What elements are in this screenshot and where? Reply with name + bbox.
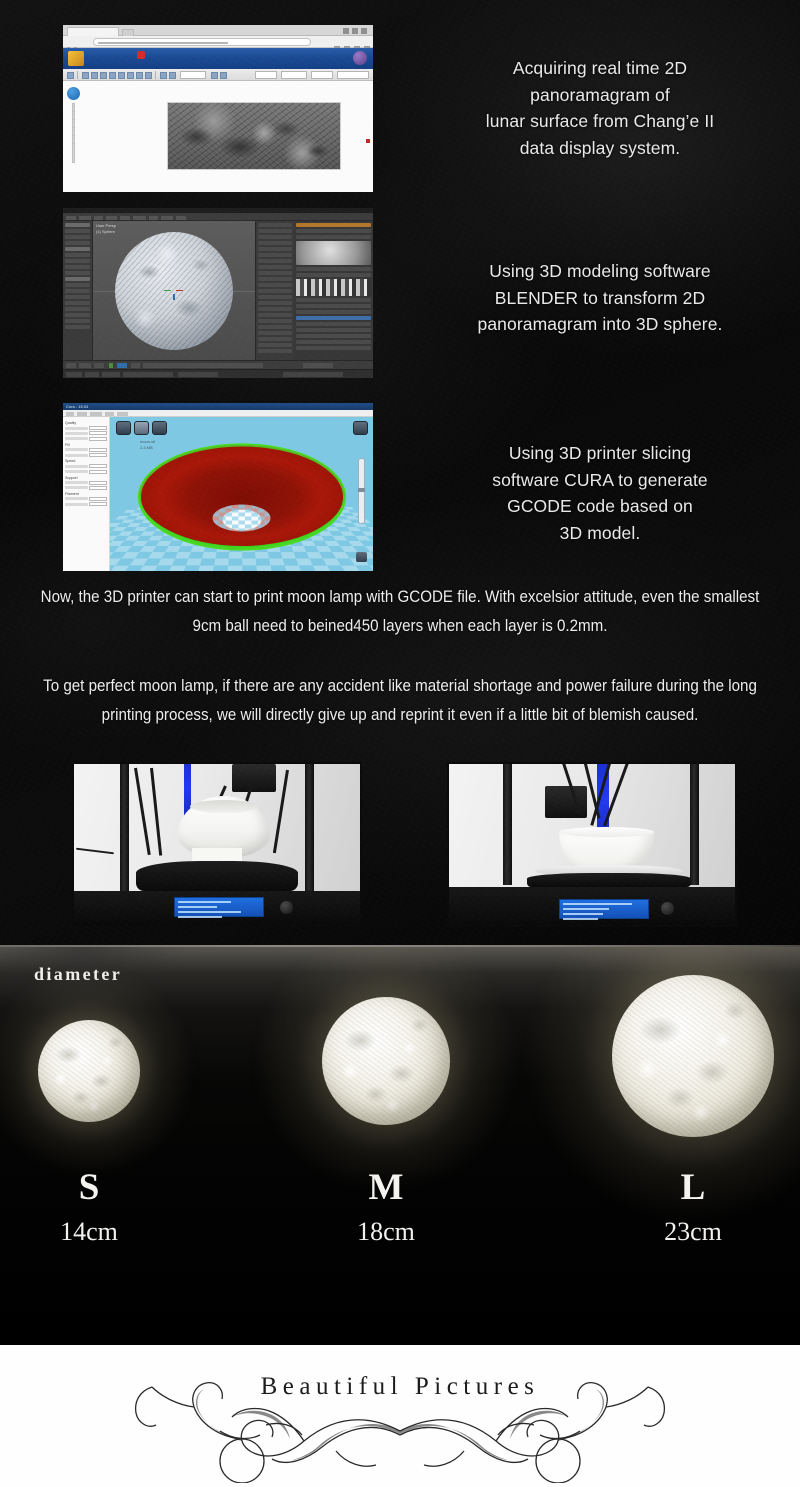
setting-row[interactable]	[65, 486, 107, 490]
sliced-model-preview	[139, 445, 344, 549]
app-toolbar[interactable]	[63, 69, 373, 81]
blender-tool-panel[interactable]	[63, 221, 93, 360]
caption-line: software CURA to generate	[420, 467, 780, 494]
moon-lamp-small	[38, 1020, 140, 1122]
cura-main-body: Quality Fill Speed Support Filament	[63, 417, 373, 571]
blender-properties-panel[interactable]	[255, 221, 373, 360]
layer-view-icon[interactable]	[356, 552, 367, 562]
cura-window-title: Cura - 15.04	[66, 404, 88, 409]
blender-timeline[interactable]	[63, 360, 373, 369]
setting-row[interactable]	[65, 502, 107, 506]
moon-lamp-large	[612, 975, 774, 1137]
blender-outliner-column[interactable]	[256, 221, 294, 360]
caption-line: GCODE code based on	[420, 493, 780, 520]
size-letter-m: M	[327, 1166, 445, 1209]
setting-row[interactable]	[65, 426, 107, 430]
product-description-page: Acquiring real time 2D panoramagram of l…	[0, 0, 800, 1487]
caption-line: 3D model.	[420, 520, 780, 547]
printing-process-section: Acquiring real time 2D panoramagram of l…	[0, 0, 800, 945]
cura-title-bar: Cura - 15.04	[63, 403, 373, 410]
paragraph-printing-start: Now, the 3D printer can start to print m…	[39, 583, 761, 640]
blender-viewport-hud: User Persp(1) Sphere	[96, 223, 116, 235]
caption-line: Acquiring real time 2D	[420, 55, 780, 82]
settings-group-label: Speed	[65, 459, 107, 463]
photo-printer-finished	[447, 762, 737, 927]
caption-line: BLENDER to transform 2D	[420, 285, 780, 312]
printer-control-knob[interactable]	[280, 901, 293, 914]
caption-line: data display system.	[420, 135, 780, 162]
caption-blender: Using 3D modeling software BLENDER to tr…	[420, 258, 780, 338]
printer-bed-carriage	[527, 873, 691, 887]
site-badge-icon	[137, 51, 145, 59]
printer-column-left	[120, 764, 129, 891]
printer-control-panel	[74, 891, 360, 925]
cura-settings-panel[interactable]: Quality Fill Speed Support Filament	[63, 417, 110, 571]
caption-line: panoramagram of	[420, 82, 780, 109]
moon-lamp-medium	[322, 997, 450, 1125]
screenshot-cura-slicer: Cura - 15.04 Quality Fill Speed	[63, 403, 373, 571]
browser-nav-icons[interactable]	[66, 39, 90, 46]
avatar[interactable]	[353, 51, 367, 65]
browser-tab-bar	[63, 25, 373, 36]
setting-row[interactable]	[65, 431, 107, 435]
blender-3d-cursor-icon	[164, 286, 184, 296]
moon-surface	[38, 1020, 140, 1122]
status-marker-icon	[366, 139, 370, 143]
window-controls[interactable]	[340, 28, 370, 34]
printer-bed-carriage	[136, 861, 298, 891]
site-logo-icon	[68, 51, 84, 66]
blender-3d-viewport[interactable]: User Persp(1) Sphere	[93, 221, 255, 360]
printer-column-left	[503, 764, 512, 885]
setting-row[interactable]	[65, 448, 107, 452]
print-raft	[192, 848, 242, 862]
printer-extruder-head	[232, 764, 276, 792]
load-model-icon	[116, 421, 131, 435]
save-toolpath-icon	[134, 421, 149, 435]
size-diameter-l: 23cm	[634, 1217, 752, 1247]
footer-section: Beautiful Pictures	[0, 1345, 800, 1487]
blender-status-bar	[63, 369, 373, 378]
settings-group-label: Quality	[65, 421, 107, 425]
browser-new-tab-button[interactable]	[122, 29, 134, 36]
model-info-label: moon.stl2.3 MB	[140, 439, 155, 450]
setting-row[interactable]	[65, 481, 107, 485]
caption-cura: Using 3D printer slicing software CURA t…	[420, 440, 780, 546]
setting-row[interactable]	[65, 497, 107, 501]
setting-row[interactable]	[65, 470, 107, 474]
size-diameter-m: 18cm	[327, 1217, 445, 1247]
size-letter-l: L	[634, 1166, 752, 1209]
caption-line: Using 3D printer slicing	[420, 440, 780, 467]
texture-preview-strip	[296, 279, 371, 296]
cura-menu-bar[interactable]	[63, 410, 373, 417]
printer-control-panel	[449, 887, 735, 925]
printer-column-right	[305, 764, 314, 891]
layer-slider[interactable]	[358, 458, 365, 524]
photo-printer-in-progress	[72, 762, 362, 927]
moon-surface	[612, 975, 774, 1137]
blender-main-body: User Persp(1) Sphere	[63, 221, 373, 360]
screenshot-browser-data-display-system	[63, 25, 373, 192]
size-diameter-s: 14cm	[30, 1217, 148, 1247]
material-preview-thumbnail	[296, 241, 371, 265]
printer-extruder-head	[545, 786, 587, 818]
caption-panoramagram: Acquiring real time 2D panoramagram of l…	[420, 55, 780, 161]
browser-tab-active[interactable]	[67, 27, 119, 36]
map-zoom-control[interactable]	[67, 87, 80, 165]
caption-line: Using 3D modeling software	[420, 258, 780, 285]
settings-group-label: Fill	[65, 443, 107, 447]
caption-line: lunar surface from Chang’e II	[420, 108, 780, 135]
screenshot-blender-3d-modeling: User Persp(1) Sphere	[63, 208, 373, 378]
share-icon	[152, 421, 167, 435]
cura-view-tool-buttons[interactable]	[116, 421, 167, 435]
blender-menu-bar[interactable]	[63, 214, 373, 221]
size-comparison-section: diameter S 14cm M 18cm L 23cm	[0, 945, 800, 1345]
printer-lcd-screen	[559, 899, 649, 919]
size-letter-s: S	[30, 1166, 148, 1209]
compass-icon[interactable]	[67, 87, 80, 100]
blender-material-column[interactable]	[294, 221, 373, 360]
lunar-panoramagram-image	[168, 103, 340, 169]
settings-group-label: Filament	[65, 492, 107, 496]
browser-url-bar	[63, 36, 373, 48]
zoom-slider[interactable]	[72, 103, 75, 163]
printer-control-knob[interactable]	[661, 902, 674, 915]
printer-column-right	[690, 764, 699, 885]
setting-row[interactable]	[65, 437, 107, 441]
moon-surface	[322, 997, 450, 1125]
caption-line: panoramagram into 3D sphere.	[420, 311, 780, 338]
setting-row[interactable]	[65, 464, 107, 468]
footer-title: Beautiful Pictures	[0, 1373, 800, 1401]
setting-row[interactable]	[65, 453, 107, 457]
printer-lcd-screen	[174, 897, 264, 917]
browser-address-input[interactable]	[93, 38, 311, 46]
settings-group-label: Support	[65, 476, 107, 480]
site-header-bar	[63, 48, 373, 69]
view-mode-icon[interactable]	[353, 421, 368, 435]
paragraph-quality-promise: To get perfect moon lamp, if there are a…	[39, 672, 761, 729]
browser-content-canvas	[63, 81, 373, 192]
cura-3d-viewport[interactable]: moon.stl2.3 MB	[110, 417, 373, 571]
